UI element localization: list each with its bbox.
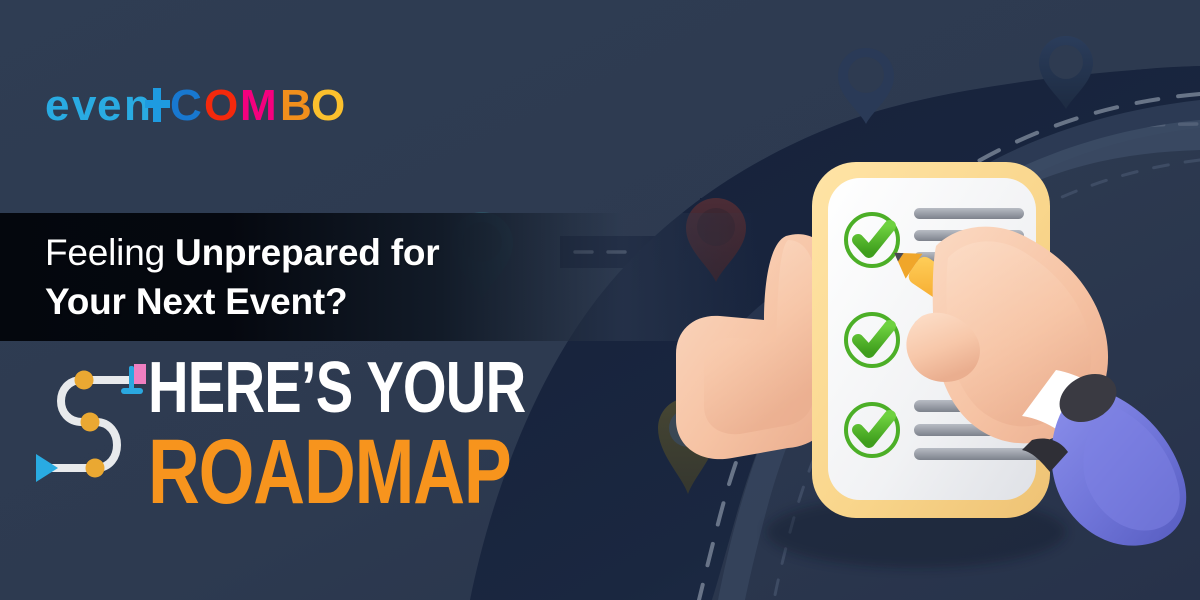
eventcombo-logo[interactable]: e v e n C O M B O bbox=[45, 84, 345, 132]
headline-text: Feeling Unprepared for Your Next Event? bbox=[45, 228, 605, 326]
left-hand bbox=[676, 234, 832, 459]
hands-holding-checklist-3d bbox=[636, 140, 1200, 600]
svg-text:e: e bbox=[97, 84, 120, 130]
headline-line1-bold: Unprepared for bbox=[175, 232, 439, 273]
headline-line1-light: Feeling bbox=[45, 232, 175, 273]
svg-text:C: C bbox=[170, 84, 201, 130]
svg-text:O: O bbox=[204, 84, 237, 130]
title-line-2: ROADMAP bbox=[148, 426, 632, 518]
marketing-banner: e v e n C O M B O Feeling Unprepared for… bbox=[0, 0, 1200, 600]
svg-text:e: e bbox=[45, 84, 68, 130]
path-node-2 bbox=[81, 413, 100, 432]
path-node-3 bbox=[86, 459, 105, 478]
title-line-1: HERE’S YOUR bbox=[148, 352, 632, 424]
eventcombo-logo-mark: e v e n C O M B O bbox=[45, 84, 345, 132]
svg-text:B: B bbox=[280, 84, 311, 130]
headline-line2-bold: Your Next Event? bbox=[45, 281, 347, 322]
path-node-1 bbox=[75, 371, 94, 390]
winding-path-icon bbox=[28, 358, 146, 498]
svg-text:M: M bbox=[240, 84, 276, 130]
svg-text:v: v bbox=[72, 84, 97, 130]
start-arrow-icon bbox=[36, 454, 58, 482]
svg-text:O: O bbox=[311, 84, 344, 130]
